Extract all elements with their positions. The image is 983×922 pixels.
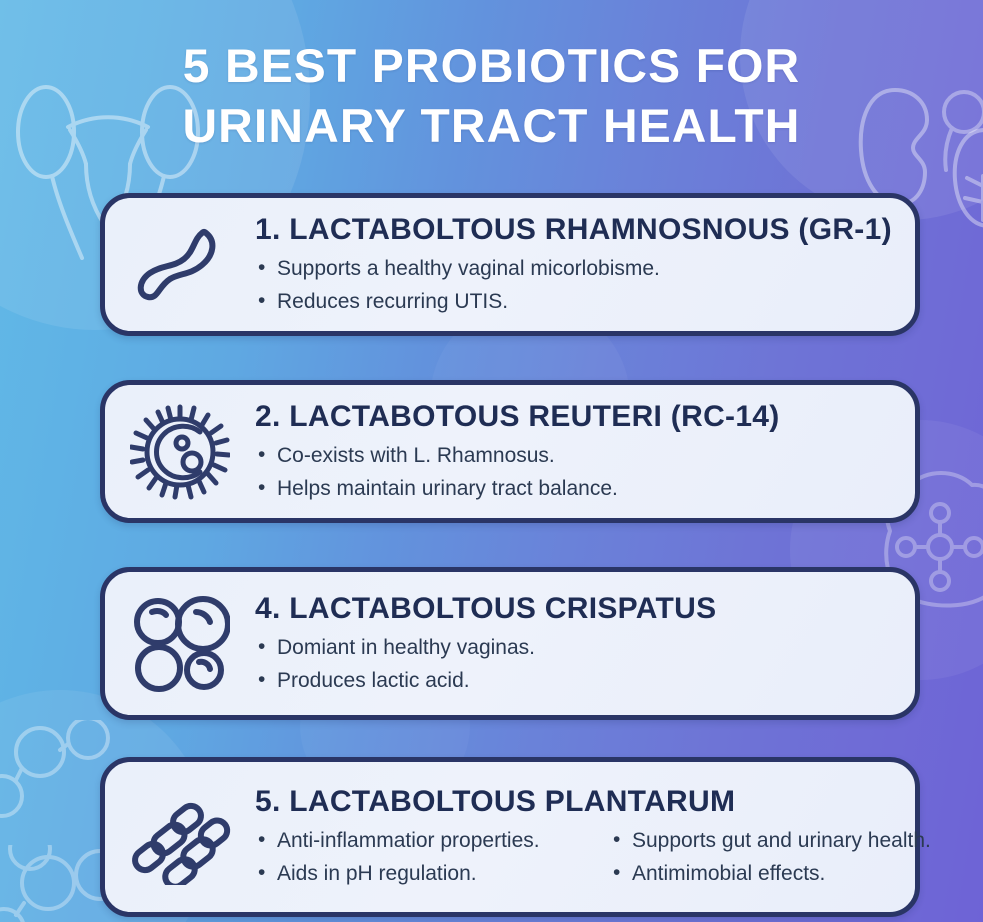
card-title: 1. LACTABOLTOUS RHAMNOSNOUS (GR-1) <box>255 212 897 248</box>
rod-bacterium-icon <box>105 217 255 313</box>
card-bullet-list: Domiant in healthy vaginas. Produces lac… <box>255 631 897 697</box>
spiky-microbe-icon <box>105 402 255 502</box>
card-content: 4. LACTABOLTOUS CRISPATUS Domiant in hea… <box>255 591 915 697</box>
card-bullet: Domiant in healthy vaginas. <box>255 631 897 664</box>
card-bullet: Aids in pH regulation. <box>255 857 610 890</box>
card-bullet-list: Co-exists with L. Rhamnosus. Helps maint… <box>255 439 897 505</box>
card-bullet: Reduces recurring UTIS. <box>255 285 897 318</box>
title-line-1: 5 BEST PROBIOTICS FOR <box>0 36 983 96</box>
card-bullet: Supports a healthy vaginal micorlobisme. <box>255 252 897 285</box>
cocci-cluster-icon <box>105 596 255 692</box>
card-content: 1. LACTABOLTOUS RHAMNOSNOUS (GR-1) Suppo… <box>255 212 915 318</box>
poster-title: 5 BEST PROBIOTICS FOR URINARY TRACT HEAL… <box>0 36 983 156</box>
card-bullet: Co-exists with L. Rhamnosus. <box>255 439 897 472</box>
card-bullet: Produces lactic acid. <box>255 664 897 697</box>
card-bullet: Supports gut and urinary health. <box>610 824 931 857</box>
probiotic-card: 4. LACTABOLTOUS CRISPATUS Domiant in hea… <box>100 567 920 720</box>
card-bullet: Helps maintain urinary tract balance. <box>255 472 897 505</box>
card-content: 2. LACTABOTOUS REUTERI (RC-14) Co-exists… <box>255 399 915 505</box>
card-title: 5. LACTABOLTOUS PLANTARUM <box>255 784 897 820</box>
infographic-poster: 5 BEST PROBIOTICS FOR URINARY TRACT HEAL… <box>0 0 983 922</box>
card-content: 5. LACTABOLTOUS PLANTARUM Anti-inflammat… <box>255 784 915 890</box>
card-bullet: Anti-inflammatior properties. <box>255 824 610 857</box>
card-title: 2. LACTABOTOUS REUTERI (RC-14) <box>255 399 897 435</box>
probiotic-card: 2. LACTABOTOUS REUTERI (RC-14) Co-exists… <box>100 380 920 523</box>
probiotic-card: 1. LACTABOLTOUS RHAMNOSNOUS (GR-1) Suppo… <box>100 193 920 336</box>
card-title: 4. LACTABOLTOUS CRISPATUS <box>255 591 897 627</box>
card-bullet-list: Supports a healthy vaginal micorlobisme.… <box>255 252 897 318</box>
bacilli-chain-icon <box>105 789 255 885</box>
title-line-2: URINARY TRACT HEALTH <box>0 96 983 156</box>
card-bullet-list: Anti-inflammatior properties. Supports g… <box>255 824 897 890</box>
card-bullet: Antimimobial effects. <box>610 857 931 890</box>
probiotic-card: 5. LACTABOLTOUS PLANTARUM Anti-inflammat… <box>100 757 920 917</box>
